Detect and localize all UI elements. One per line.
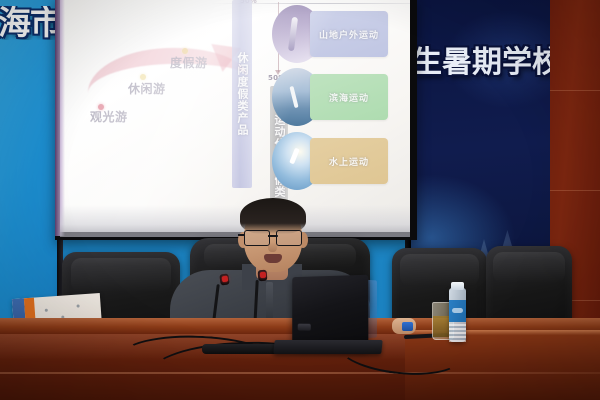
arrow-label-2: 休闲游 bbox=[128, 80, 166, 97]
slide-card-3: 水上运动 bbox=[310, 138, 388, 184]
water-bottle-label bbox=[449, 300, 466, 322]
laptop-base bbox=[273, 340, 382, 354]
black-laptop bbox=[292, 275, 368, 350]
slide-card-1-label: 山地户外运动 bbox=[319, 28, 379, 41]
vertical-bar-1: 休闲度假类产品 bbox=[232, 0, 252, 188]
water-bottle-ribs bbox=[449, 324, 466, 342]
presentation-clicker bbox=[402, 322, 413, 331]
microphone-base bbox=[202, 344, 278, 354]
banner-right-text: 生暑期学校 bbox=[412, 48, 572, 78]
slide-card-1: 山地户外运动 bbox=[310, 11, 388, 57]
water-bottle-cap bbox=[451, 282, 464, 290]
arrow-label-3: 度假游 bbox=[170, 54, 208, 71]
screen-left-edge-tint bbox=[55, 0, 65, 236]
screenshot-root: 海市 生暑期学校 50% 观光游 休闲游 度假游 bbox=[0, 0, 600, 400]
banner-left-text: 海市 bbox=[0, 6, 62, 40]
arrow-label-1: 观光游 bbox=[90, 108, 128, 125]
slide-card-3-label: 水上运动 bbox=[329, 155, 369, 168]
vertical-bar-1-label: 休闲度假类产品 bbox=[234, 52, 250, 136]
banner-left: 海市 bbox=[0, 0, 57, 330]
slide-card-2-label: 滨海运动 bbox=[329, 91, 369, 104]
slide-card-2: 滨海运动 bbox=[310, 74, 388, 120]
